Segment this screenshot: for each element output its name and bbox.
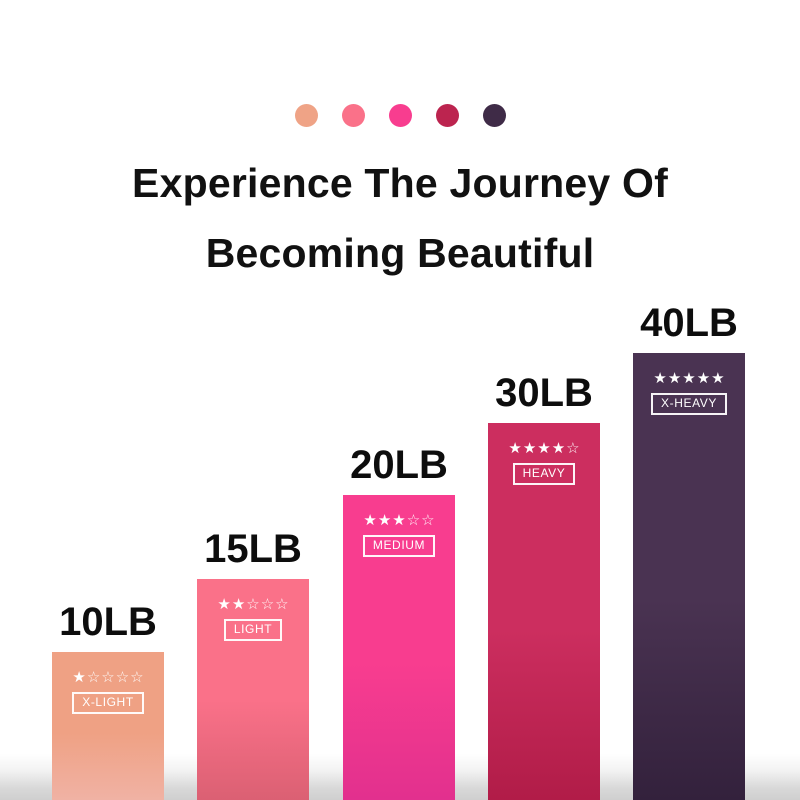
star-empty-icon: ☆ bbox=[246, 597, 259, 612]
star-filled-icon: ★ bbox=[363, 513, 376, 528]
star-empty-icon: ☆ bbox=[566, 441, 579, 456]
star-filled-icon: ★ bbox=[711, 371, 724, 386]
level-badge-20lb: MEDIUM bbox=[363, 535, 435, 557]
level-badge-40lb: X-HEAVY bbox=[651, 393, 727, 415]
bar-weight-label-15lb: 15LB bbox=[204, 529, 302, 569]
bar-fill-40lb bbox=[633, 353, 745, 800]
star-filled-icon: ★ bbox=[697, 371, 710, 386]
bar-column-15lb[interactable]: 15LB★★☆☆☆LIGHT bbox=[197, 523, 309, 800]
bar-20lb[interactable]: ★★★☆☆MEDIUM bbox=[343, 495, 455, 800]
bar-30lb[interactable]: ★★★★☆HEAVY bbox=[488, 423, 600, 800]
floor-shadow-strip-2 bbox=[309, 754, 343, 800]
star-filled-icon: ★ bbox=[523, 441, 536, 456]
floor-shadow-strip-4 bbox=[600, 754, 633, 800]
star-empty-icon: ☆ bbox=[130, 670, 143, 685]
star-filled-icon: ★ bbox=[378, 513, 391, 528]
star-filled-icon: ★ bbox=[552, 441, 565, 456]
bar-column-30lb[interactable]: 30LB★★★★☆HEAVY bbox=[488, 367, 600, 800]
bar-weight-label-40lb: 40LB bbox=[640, 303, 738, 343]
bar-column-20lb[interactable]: 20LB★★★☆☆MEDIUM bbox=[343, 439, 455, 800]
floor-shadow-strip-5 bbox=[745, 754, 800, 800]
bar-10lb[interactable]: ★☆☆☆☆X-LIGHT bbox=[52, 652, 164, 800]
bar-column-40lb[interactable]: 40LB★★★★★X-HEAVY bbox=[633, 297, 745, 800]
bar-40lb[interactable]: ★★★★★X-HEAVY bbox=[633, 353, 745, 800]
floor-shadow-strip-1 bbox=[164, 754, 197, 800]
bar-content-15lb: ★★☆☆☆LIGHT bbox=[197, 597, 309, 641]
star-empty-icon: ☆ bbox=[116, 670, 129, 685]
star-rating-10lb: ★☆☆☆☆ bbox=[72, 670, 143, 685]
star-filled-icon: ★ bbox=[508, 441, 521, 456]
bar-weight-label-10lb: 10LB bbox=[59, 602, 157, 642]
star-empty-icon: ☆ bbox=[407, 513, 420, 528]
star-empty-icon: ☆ bbox=[275, 597, 288, 612]
star-rating-20lb: ★★★☆☆ bbox=[363, 513, 434, 528]
star-filled-icon: ★ bbox=[668, 371, 681, 386]
star-rating-15lb: ★★☆☆☆ bbox=[217, 597, 288, 612]
star-rating-30lb: ★★★★☆ bbox=[508, 441, 579, 456]
bar-weight-label-20lb: 20LB bbox=[350, 445, 448, 485]
star-empty-icon: ☆ bbox=[101, 670, 114, 685]
star-filled-icon: ★ bbox=[537, 441, 550, 456]
level-badge-15lb: LIGHT bbox=[224, 619, 282, 641]
bar-content-30lb: ★★★★☆HEAVY bbox=[488, 441, 600, 485]
star-filled-icon: ★ bbox=[653, 371, 666, 386]
star-filled-icon: ★ bbox=[232, 597, 245, 612]
bar-content-20lb: ★★★☆☆MEDIUM bbox=[343, 513, 455, 557]
star-filled-icon: ★ bbox=[72, 670, 85, 685]
level-badge-10lb: X-LIGHT bbox=[72, 692, 144, 714]
resistance-band-bar-chart: 10LB★☆☆☆☆X-LIGHT15LB★★☆☆☆LIGHT20LB★★★☆☆M… bbox=[0, 0, 800, 800]
star-empty-icon: ☆ bbox=[261, 597, 274, 612]
bar-column-10lb[interactable]: 10LB★☆☆☆☆X-LIGHT bbox=[52, 596, 164, 800]
floor-shadow-strip-0 bbox=[0, 754, 52, 800]
star-filled-icon: ★ bbox=[217, 597, 230, 612]
bar-content-40lb: ★★★★★X-HEAVY bbox=[633, 371, 745, 415]
level-badge-30lb: HEAVY bbox=[513, 463, 576, 485]
star-rating-40lb: ★★★★★ bbox=[653, 371, 724, 386]
star-empty-icon: ☆ bbox=[421, 513, 434, 528]
bar-weight-label-30lb: 30LB bbox=[495, 373, 593, 413]
floor-shadow-strip-3 bbox=[455, 754, 488, 800]
star-filled-icon: ★ bbox=[392, 513, 405, 528]
bar-content-10lb: ★☆☆☆☆X-LIGHT bbox=[52, 670, 164, 714]
bar-15lb[interactable]: ★★☆☆☆LIGHT bbox=[197, 579, 309, 800]
star-filled-icon: ★ bbox=[682, 371, 695, 386]
infographic-canvas: Experience The Journey Of Becoming Beaut… bbox=[0, 0, 800, 800]
star-empty-icon: ☆ bbox=[87, 670, 100, 685]
